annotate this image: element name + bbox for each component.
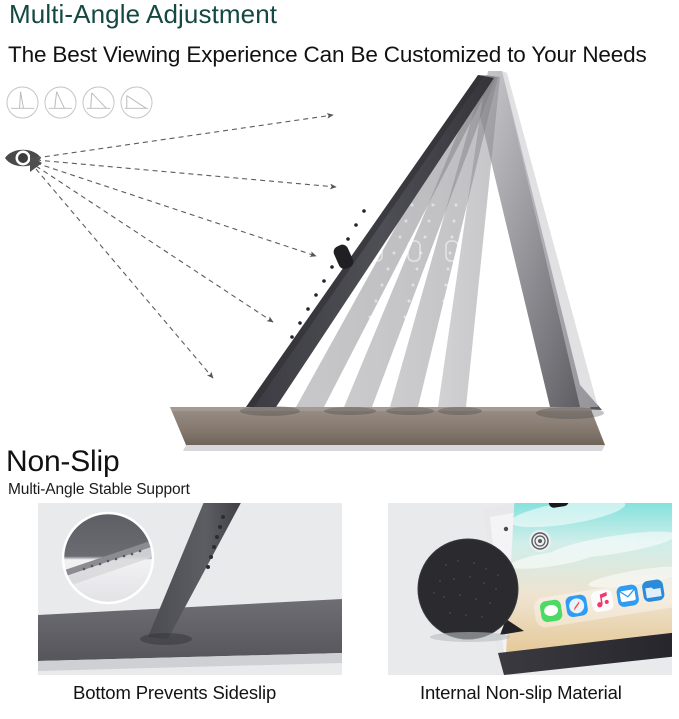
- eye-icon: [3, 144, 47, 172]
- safari-circle-icon: [529, 530, 551, 552]
- left-panel-caption: Bottom Prevents Sideslip: [73, 682, 276, 704]
- music-icon: [590, 589, 614, 613]
- ghost-positions: [296, 75, 500, 407]
- nonslip-title: Non-Slip: [6, 445, 119, 479]
- messages-icon: [539, 599, 563, 623]
- page-title: Multi-Angle Adjustment: [9, 0, 277, 30]
- internal-non-slip-material-panel: tv: [388, 503, 672, 675]
- front-camera: [504, 527, 508, 531]
- safari-icon: [565, 594, 589, 618]
- angle-preset-3-icon: [82, 86, 115, 119]
- right-panel-caption: Internal Non-slip Material: [420, 682, 622, 704]
- multi-angle-tablet-illustration: [150, 55, 620, 455]
- files-icon: [641, 579, 665, 603]
- bottom-prevents-sideslip-panel: [38, 503, 342, 675]
- base-edge: [183, 445, 605, 451]
- viewing-angle-icons: [6, 86, 153, 119]
- nonslip-subtitle: Multi-Angle Stable Support: [8, 481, 190, 499]
- mail-icon: [616, 584, 640, 608]
- angle-preset-2-icon: [44, 86, 77, 119]
- angle-preset-1-icon: [6, 86, 39, 119]
- angle-preset-4-icon: [120, 86, 153, 119]
- product-feature-page: Multi-Angle Adjustment The Best Viewing …: [0, 0, 679, 719]
